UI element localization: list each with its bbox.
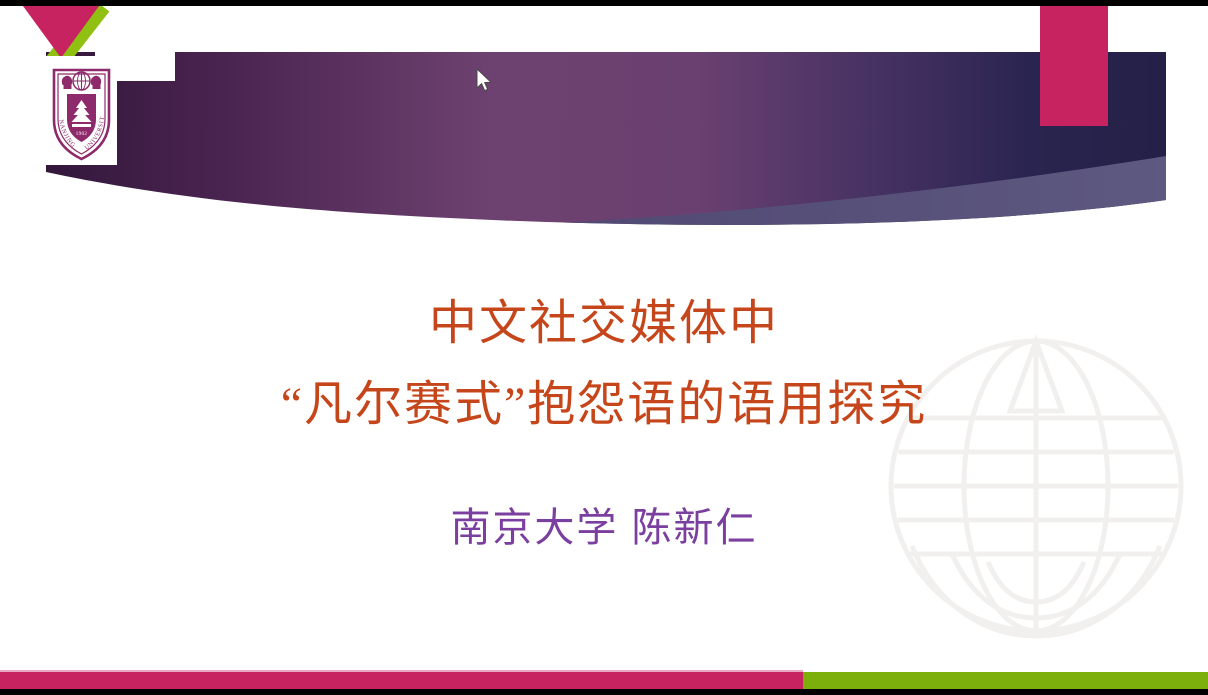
svg-text:1902: 1902 (76, 132, 88, 137)
decor-pink-rectangle-icon (1040, 6, 1108, 126)
footer-accent-bar-pink (0, 672, 803, 689)
footer-hairline (0, 670, 803, 672)
footer-accent-bar-green (803, 672, 1208, 689)
header-banner (46, 52, 1166, 227)
page-title-line-2: “凡尔赛式”抱怨语的语用探究 (0, 362, 1208, 448)
page-title-line-1: 中文社交媒体中 (0, 286, 1208, 362)
slide-subtitle: 南京大学 陈新仁 (0, 498, 1208, 558)
letterbox-top-band (0, 0, 1208, 6)
nanjing-university-crest-logo: 1902 NANJING UNIVERSITY (46, 56, 117, 165)
slide-canvas: 1902 NANJING UNIVERSITY (0, 6, 1208, 689)
slide-viewer: 1902 NANJING UNIVERSITY (0, 0, 1208, 695)
slide-title-block: 中文社交媒体中 “凡尔赛式”抱怨语的语用探究 (0, 286, 1208, 448)
letterbox-bottom-band (0, 689, 1208, 695)
decor-pink-triangle-icon (23, 6, 99, 58)
